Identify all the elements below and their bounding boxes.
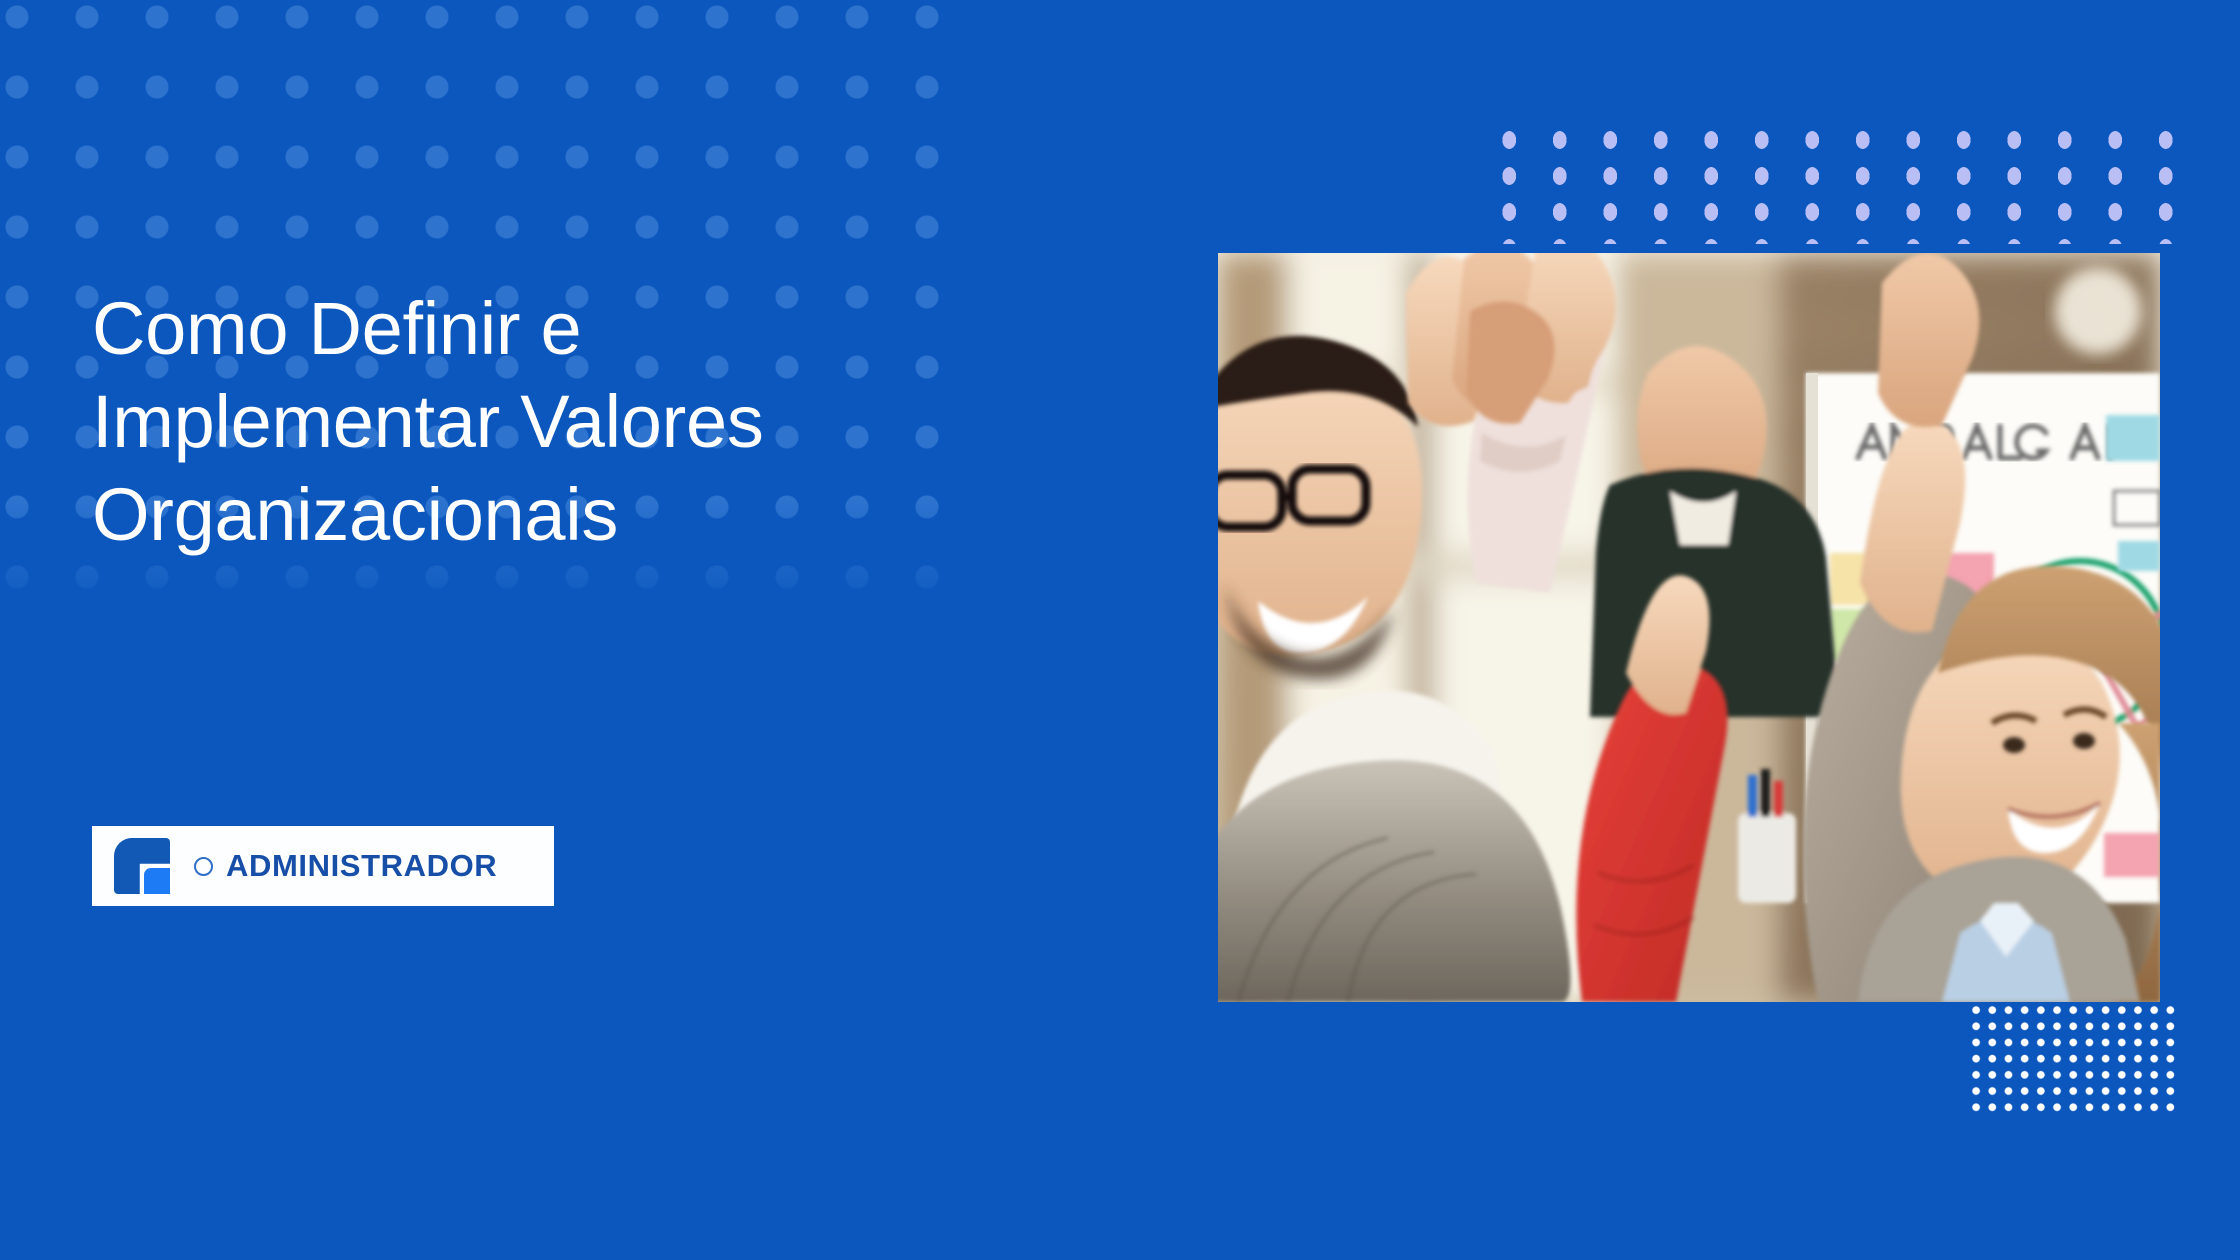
page-title: Como Definir e Implementar Valores Organ… [92, 282, 1152, 562]
brand-wordmark: ADMINISTRADOR [226, 848, 497, 884]
brand-logo[interactable]: ADMINISTRADOR [92, 826, 554, 906]
dot-pattern-bottom-right-icon [1968, 1002, 2176, 1117]
headline-block: Como Definir e Implementar Valores Organ… [92, 282, 1152, 562]
blog-cover-banner: Como Definir e Implementar Valores Organ… [0, 0, 2240, 1260]
cover-photo: 30% [1218, 253, 2160, 1002]
circle-outline-icon [194, 857, 213, 876]
dot-pattern-top-right-icon [1484, 122, 2174, 244]
administrador-mark-icon [114, 838, 170, 894]
